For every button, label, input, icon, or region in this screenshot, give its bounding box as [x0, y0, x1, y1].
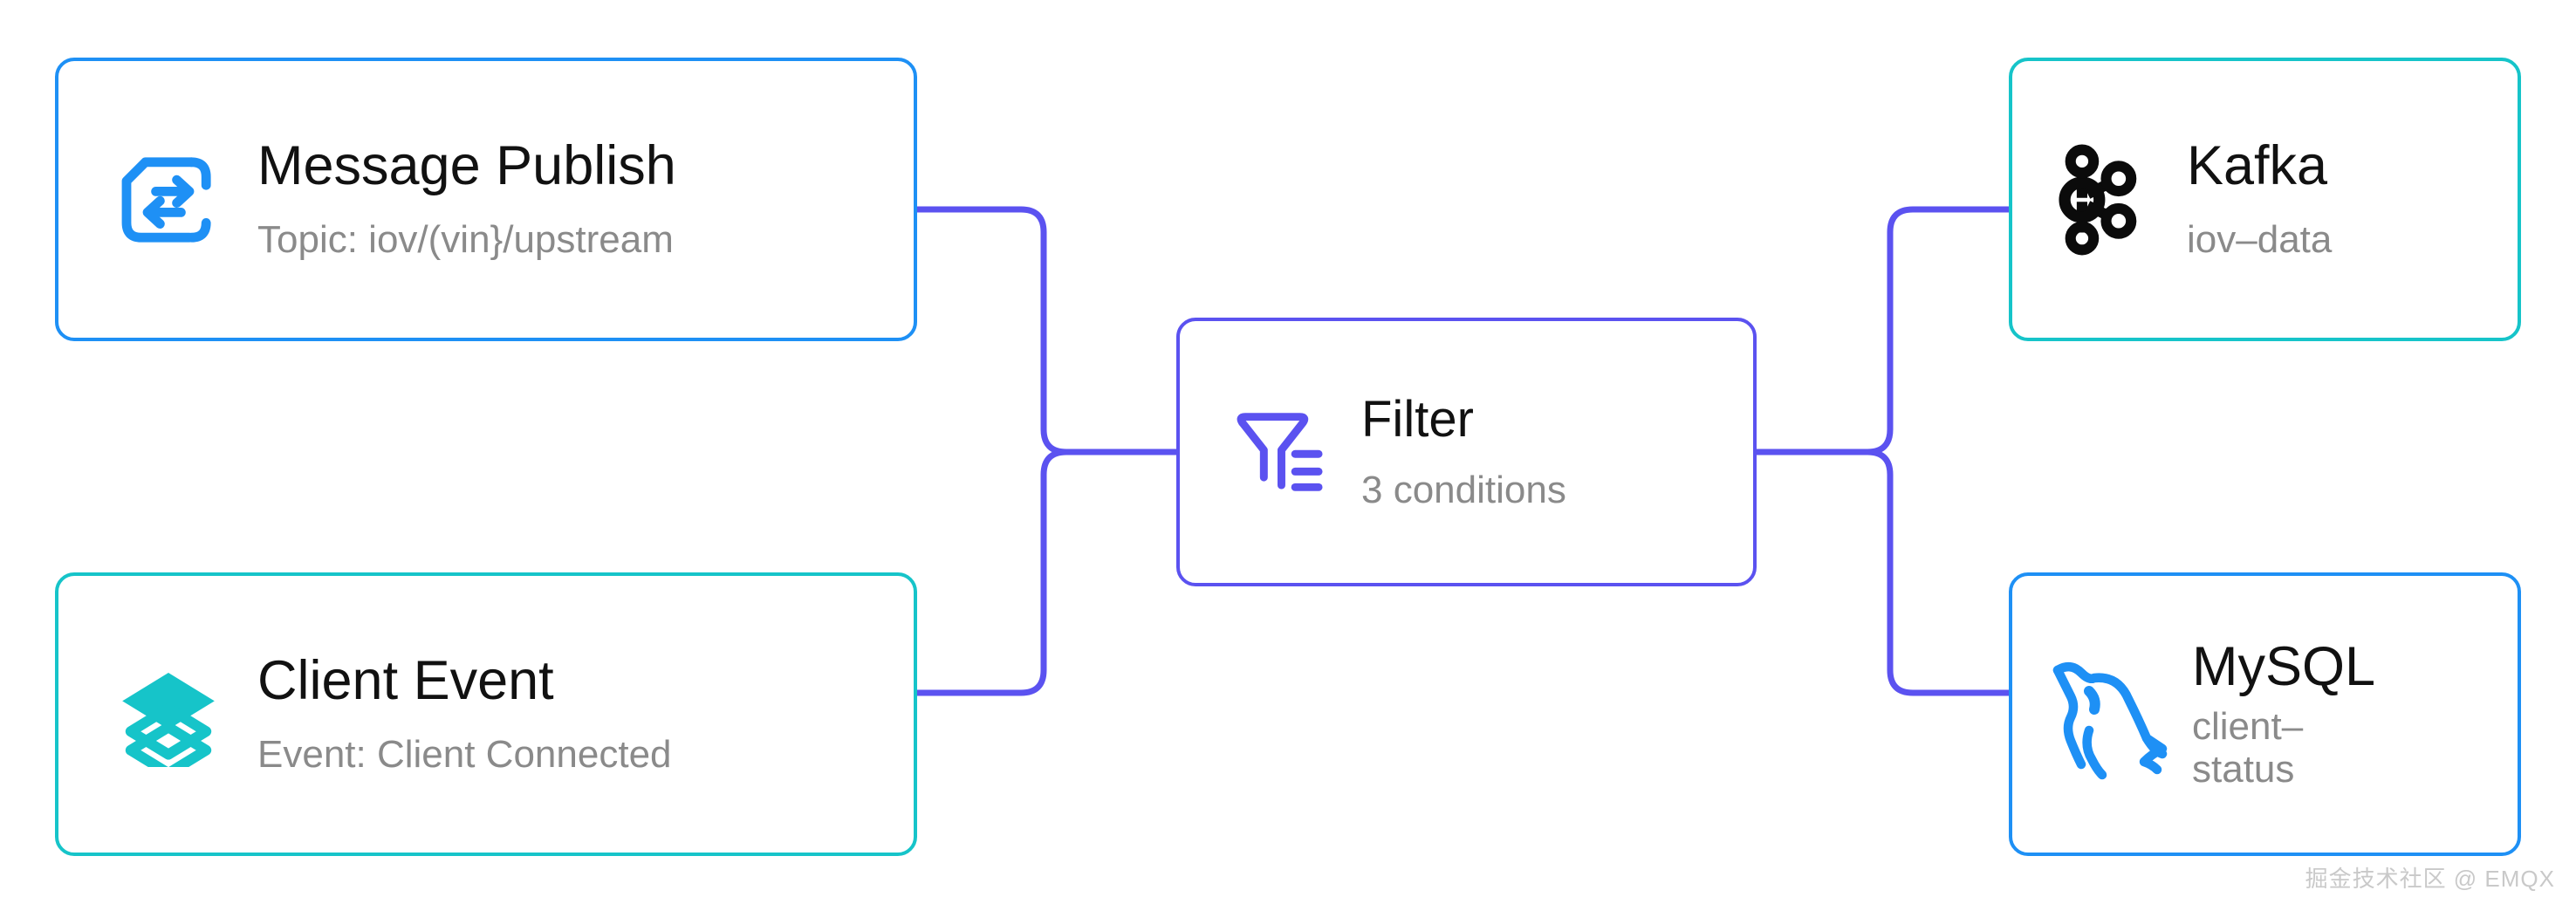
node-subtitle: Event: Client Connected — [257, 733, 672, 776]
edge-filter-to-kafka — [1757, 209, 2009, 452]
node-title: Message Publish — [257, 137, 676, 195]
watermark: 掘金技术社区 @ EMQX — [2305, 861, 2555, 894]
node-text-block: Filter 3 conditions — [1361, 393, 1566, 512]
node-subtitle: Topic: iov/(vin}/upstream — [257, 218, 676, 261]
node-subtitle: iov–data — [2187, 218, 2332, 261]
node-title: Filter — [1361, 393, 1566, 446]
node-text-block: Message Publish Topic: iov/(vin}/upstrea… — [257, 137, 676, 261]
edge-client-event-to-filter — [917, 452, 1176, 693]
edge-message-publish-to-filter — [917, 209, 1176, 452]
node-mysql[interactable]: MySQL client– status — [2009, 572, 2521, 856]
funnel-icon — [1229, 403, 1326, 501]
node-subtitle: client– status — [2192, 705, 2375, 791]
layers-icon — [116, 662, 221, 767]
diagram-canvas: Message Publish Topic: iov/(vin}/upstrea… — [0, 0, 2576, 904]
node-kafka[interactable]: Kafka iov–data — [2009, 58, 2521, 341]
node-text-block: Client Event Event: Client Connected — [257, 652, 672, 776]
node-subtitle-line-1: client– — [2192, 705, 2375, 748]
node-title: Client Event — [257, 652, 672, 710]
edge-filter-to-mysql — [1757, 452, 2009, 693]
node-text-block: MySQL client– status — [2192, 638, 2375, 791]
node-subtitle-line-2: status — [2192, 748, 2375, 791]
node-title: Kafka — [2187, 137, 2332, 195]
node-subtitle: 3 conditions — [1361, 469, 1566, 511]
node-filter[interactable]: Filter 3 conditions — [1176, 318, 1757, 586]
node-client-event[interactable]: Client Event Event: Client Connected — [55, 572, 917, 856]
message-exchange-icon — [116, 147, 221, 252]
mysql-dolphin-icon — [2037, 649, 2168, 780]
kafka-logo-icon — [2052, 144, 2150, 256]
node-text-block: Kafka iov–data — [2187, 137, 2332, 261]
node-title: MySQL — [2192, 638, 2375, 696]
node-message-publish[interactable]: Message Publish Topic: iov/(vin}/upstrea… — [55, 58, 917, 341]
